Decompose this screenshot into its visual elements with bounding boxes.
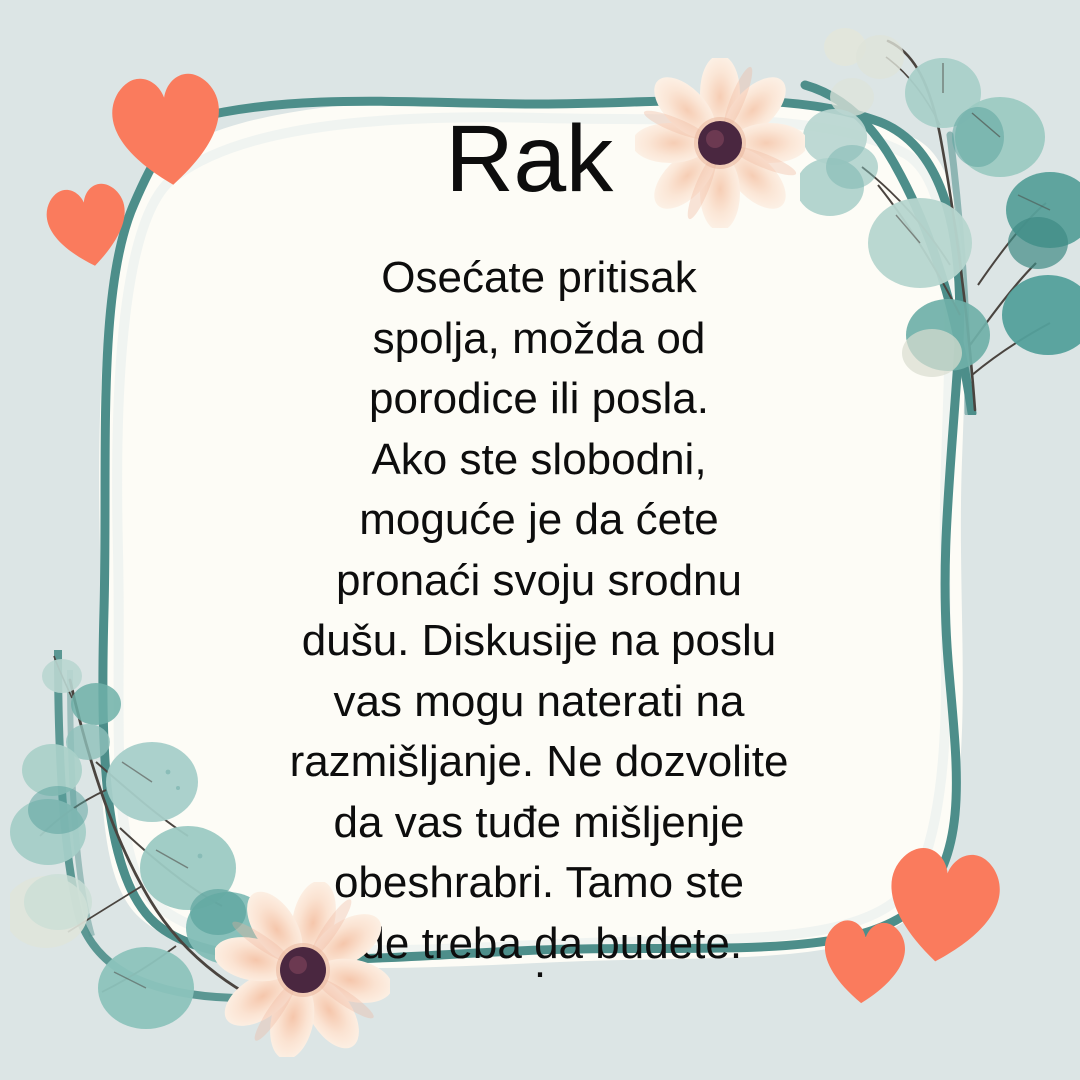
heart-top-left-small	[35, 175, 141, 278]
eucalyptus-branch-top-right	[800, 15, 1080, 415]
anemone-flower-bottom	[215, 882, 390, 1057]
anemone-flower-top	[635, 58, 805, 228]
poster-canvas: Rak Osećate pritisakspolja, možda odporo…	[0, 0, 1080, 1080]
heart-bottom-right-small	[813, 914, 915, 1010]
